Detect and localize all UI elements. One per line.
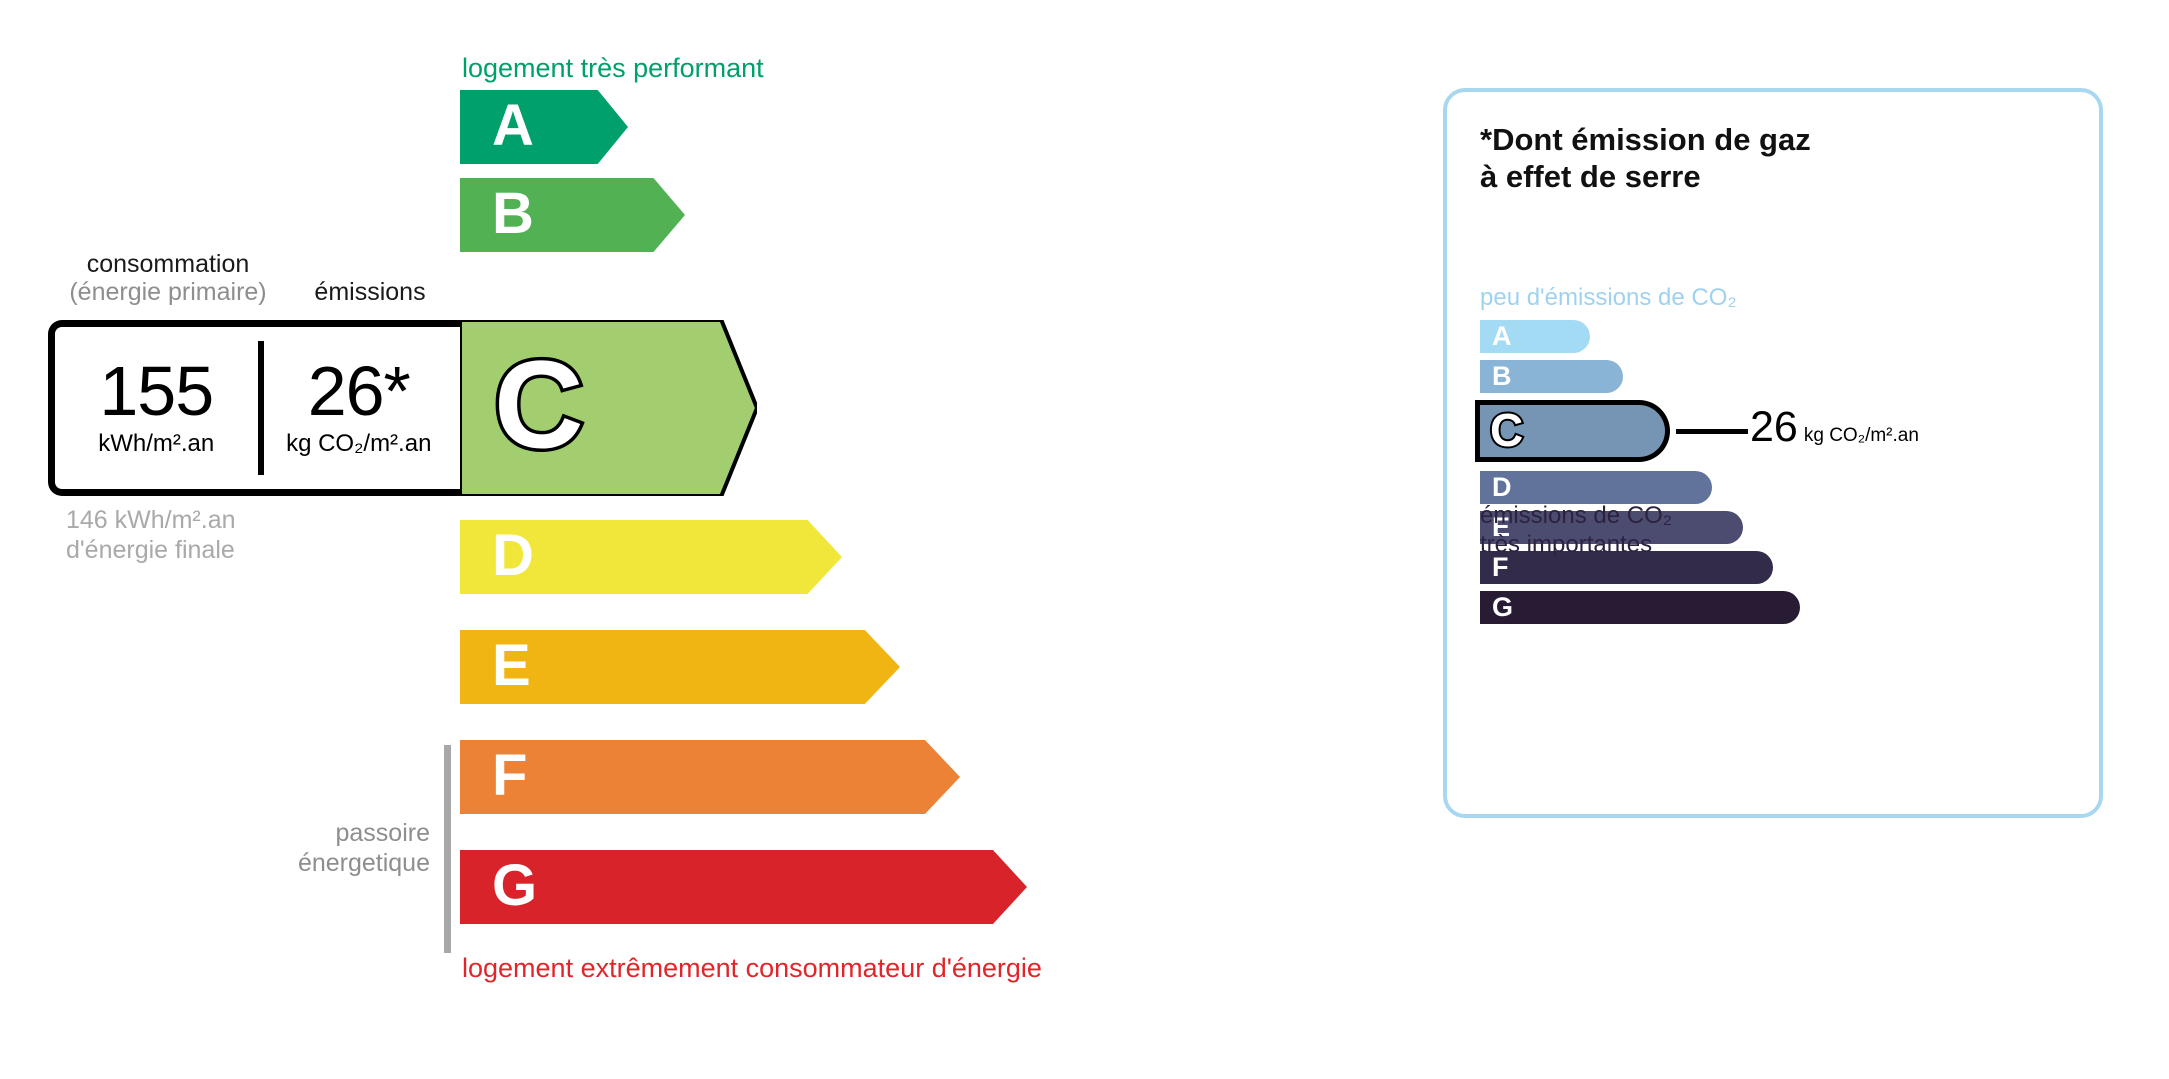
- energy-band-letter: E: [492, 637, 531, 695]
- co2-callout: 26kg CO₂/m².an: [1750, 403, 1919, 452]
- co2-bar-g[interactable]: G: [1480, 591, 1800, 624]
- energy-band-letter: G: [492, 857, 537, 915]
- consumption-cell: 155 kWh/m².an: [55, 327, 258, 489]
- consumption-caption-sub: (énergie primaire): [48, 278, 288, 306]
- emissions-cell: 26* kg CO₂/m².an: [258, 327, 461, 489]
- co2-callout-unit: kg CO₂/m².an: [1804, 425, 1919, 446]
- co2-bottom-label: émissions de CO₂ très importantes: [1480, 501, 1672, 560]
- consumption-caption: consommation (énergie primaire): [48, 250, 288, 306]
- energy-band-a[interactable]: A: [460, 90, 628, 164]
- co2-bar-letter: G: [1492, 593, 1513, 620]
- passoire-label: passoire énergetique: [220, 818, 430, 878]
- co2-title-line1: *Dont émission de gaz: [1480, 122, 1811, 157]
- band-arrow-shape: [460, 90, 628, 164]
- scale-top-label: logement très performant: [462, 53, 764, 84]
- co2-callout-leader-line: [1676, 429, 1748, 434]
- consumption-caption-main: consommation: [87, 250, 250, 278]
- final-energy-label: d'énergie finale: [66, 536, 235, 564]
- energy-band-letter: F: [492, 747, 527, 805]
- energy-band-d[interactable]: D: [460, 520, 842, 594]
- band-arrow-shape: [460, 850, 1027, 924]
- value-box: 155 kWh/m².an 26* kg CO₂/m².an: [48, 320, 460, 496]
- co2-bar-b[interactable]: B: [1480, 360, 1623, 393]
- co2-bar-a[interactable]: A: [1480, 320, 1590, 353]
- co2-bar-letter: B: [1492, 362, 1512, 389]
- final-energy-value: 146 kWh/m².an: [66, 506, 236, 534]
- co2-top-label: peu d'émissions de CO₂: [1480, 284, 1737, 312]
- energy-band-g[interactable]: G: [460, 850, 1027, 924]
- consumption-value: 155: [99, 358, 213, 425]
- co2-callout-value: 26: [1750, 403, 1798, 451]
- emissions-unit: kg CO₂/m².an: [286, 430, 431, 458]
- co2-title-line2: à effet de serre: [1480, 159, 1701, 194]
- co2-bar-d[interactable]: D: [1480, 471, 1712, 504]
- passoire-label-line1: passoire: [336, 819, 431, 847]
- co2-panel: *Dont émission de gaz à effet de serre p…: [1443, 88, 2103, 818]
- energy-band-letter-selected: C: [494, 344, 584, 468]
- energy-band-f[interactable]: F: [460, 740, 960, 814]
- emissions-value: 26*: [308, 358, 410, 425]
- energy-band-c-selected[interactable]: C: [460, 320, 757, 496]
- final-energy-note: 146 kWh/m².an d'énergie finale: [66, 505, 236, 565]
- consumption-unit: kWh/m².an: [98, 430, 214, 458]
- energy-band-letter: D: [492, 527, 534, 585]
- emissions-caption: émissions: [290, 278, 450, 306]
- co2-panel-title: *Dont émission de gaz à effet de serre: [1480, 122, 1811, 195]
- scale-bottom-label: logement extrêmement consommateur d'éner…: [462, 953, 1042, 984]
- energy-band-e[interactable]: E: [460, 630, 900, 704]
- band-arrow-shape: [460, 740, 960, 814]
- co2-bar-letter: A: [1492, 322, 1512, 349]
- co2-bar-letter-selected: C: [1490, 407, 1523, 453]
- energy-band-b[interactable]: B: [460, 178, 685, 252]
- energy-band-letter: A: [492, 97, 534, 155]
- passoire-bracket: [444, 745, 451, 953]
- co2-bar-c-selected[interactable]: C: [1480, 400, 1670, 462]
- energy-band-letter: B: [492, 185, 534, 243]
- co2-bottom-label-line2: très importantes: [1480, 531, 1652, 558]
- energy-performance-diagram: logement très performant A B C D E: [0, 0, 1400, 1079]
- passoire-label-line2: énergetique: [298, 849, 430, 877]
- co2-bar-letter: D: [1492, 473, 1512, 500]
- co2-bottom-label-line1: émissions de CO₂: [1480, 502, 1672, 529]
